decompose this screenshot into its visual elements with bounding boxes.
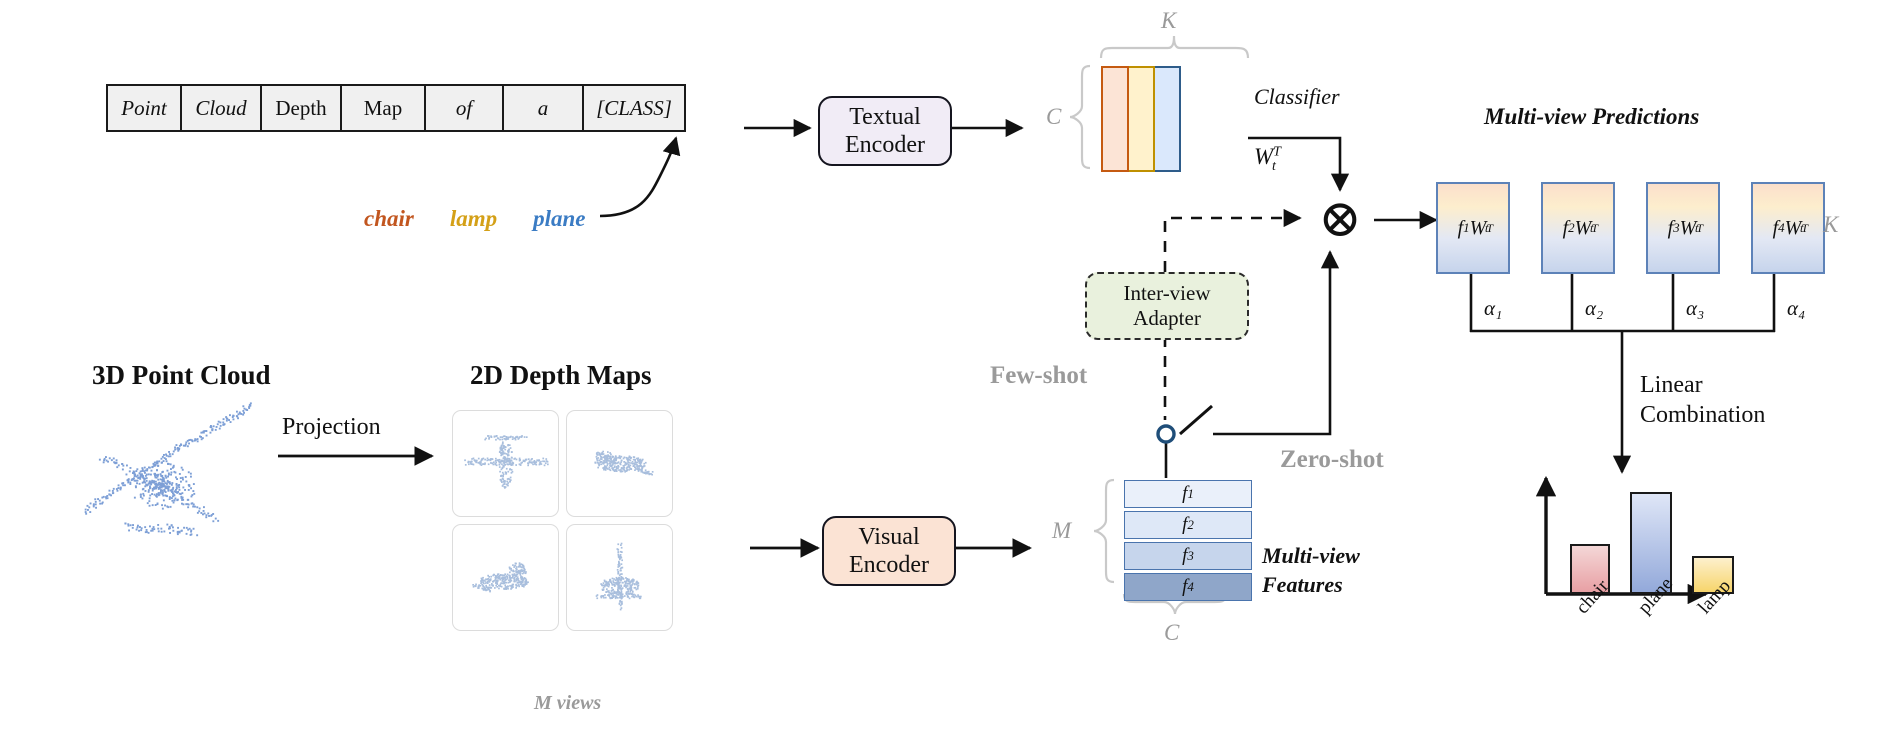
linear-combination-label: Linear Combination	[1640, 370, 1765, 430]
prompt-cell-3[interactable]: Map	[342, 86, 426, 130]
depth-map-view-4[interactable]	[566, 524, 673, 631]
feature-row-4: f4	[1124, 573, 1252, 601]
linear-combination-line1: Linear	[1640, 370, 1765, 400]
feature-row-2: f2	[1124, 511, 1252, 539]
depth-map-view-3[interactable]	[452, 524, 559, 631]
features-brace-c-label: C	[1164, 620, 1179, 646]
visual-encoder-box[interactable]: Visual Encoder	[822, 516, 956, 586]
classifier-formula-sup: T	[1273, 144, 1281, 159]
class-word-lamp[interactable]: lamp	[450, 206, 497, 232]
alpha-weight-2: α₂	[1585, 296, 1603, 321]
prompt-cell-5[interactable]: a	[504, 86, 584, 130]
depth-maps-title: 2D Depth Maps	[470, 360, 652, 391]
classifier-title: Classifier	[1254, 84, 1340, 110]
textual-encoder-line1: Textual	[849, 103, 921, 131]
prediction-box-4: f4WTt	[1751, 182, 1825, 274]
feature-3-sub: 3	[1187, 548, 1194, 564]
prompt-cell-2[interactable]: Depth	[262, 86, 342, 130]
alpha-weight-1: α₁	[1484, 296, 1502, 321]
multiply-operator-icon: ⊗	[1310, 190, 1370, 250]
predictions-brace-k-label: K	[1823, 212, 1838, 238]
feature-row-3: f3	[1124, 542, 1252, 570]
multiply-glyph: ⊗	[1318, 194, 1362, 246]
multi-view-feature-stack: f1 f2 f3 f4	[1124, 480, 1252, 604]
alpha-weight-3: α₃	[1686, 296, 1704, 321]
pred-2-wsub: t	[1590, 221, 1593, 236]
prompt-cell-1[interactable]: Cloud	[182, 86, 262, 130]
features-caption: Multi-view Features	[1262, 542, 1360, 599]
point-cloud-title: 3D Point Cloud	[92, 360, 271, 391]
prompt-template-table: Point Cloud Depth Map of a [CLASS]	[106, 84, 686, 132]
point-cloud-figure	[66, 398, 266, 546]
pred-3-wsub: t	[1695, 221, 1698, 236]
classifier-column-lamp	[1129, 66, 1155, 172]
classifier-column-plane	[1155, 66, 1181, 172]
zero-shot-label: Zero-shot	[1280, 446, 1384, 474]
feature-2-sub: 2	[1187, 517, 1194, 533]
depth-map-grid	[452, 410, 671, 629]
adapter-line1: Inter-view	[1123, 281, 1210, 306]
pred-4-w: W	[1785, 217, 1802, 240]
classifier-brace-k-label: K	[1161, 8, 1176, 34]
classifier-formula-sub: t	[1272, 159, 1276, 174]
prompt-cell-0[interactable]: Point	[108, 86, 182, 130]
textual-encoder-box[interactable]: Textual Encoder	[818, 96, 952, 166]
feature-row-1: f1	[1124, 480, 1252, 508]
classifier-matrix	[1101, 66, 1181, 172]
prediction-box-row: f1WTt f2WTt f3WTt f4WTt	[1436, 182, 1825, 274]
visual-encoder-line1: Visual	[858, 523, 919, 551]
linear-combination-line2: Combination	[1640, 400, 1765, 430]
features-brace-m-label: M	[1052, 518, 1071, 544]
inter-view-adapter-box[interactable]: Inter-view Adapter	[1085, 272, 1249, 340]
classifier-formula: WTt	[1254, 144, 1276, 175]
alpha-weight-4: α₄	[1787, 296, 1805, 321]
feature-1-sub: 1	[1187, 486, 1194, 502]
prediction-box-1: f1WTt	[1436, 182, 1510, 274]
prompt-cell-4[interactable]: of	[426, 86, 504, 130]
class-word-list: chair lamp plane	[364, 206, 586, 232]
feature-4-sub: 4	[1187, 579, 1194, 595]
class-word-plane[interactable]: plane	[533, 206, 585, 232]
features-caption-line2: Features	[1262, 571, 1360, 600]
pred-1-wsub: t	[1485, 221, 1488, 236]
few-shot-label: Few-shot	[990, 362, 1087, 390]
depth-map-view-1[interactable]	[452, 410, 559, 517]
textual-encoder-line2: Encoder	[845, 131, 925, 159]
visual-encoder-line2: Encoder	[849, 551, 929, 579]
prediction-box-3: f3WTt	[1646, 182, 1720, 274]
classifier-brace-c-label: C	[1046, 104, 1061, 130]
prediction-bar-chart	[1546, 480, 1736, 594]
pred-4-wsub: t	[1800, 221, 1803, 236]
prediction-box-2: f2WTt	[1541, 182, 1615, 274]
features-caption-line1: Multi-view	[1262, 542, 1360, 571]
adapter-line2: Adapter	[1133, 306, 1201, 331]
class-word-chair[interactable]: chair	[364, 206, 414, 232]
views-caption: M views	[534, 692, 601, 715]
multi-view-predictions-title: Multi-view Predictions	[1484, 104, 1699, 130]
depth-map-view-2[interactable]	[566, 410, 673, 517]
pred-2-w: W	[1575, 217, 1592, 240]
pred-1-w: W	[1470, 217, 1487, 240]
prompt-cell-class[interactable]: [CLASS]	[584, 86, 684, 130]
classifier-column-chair	[1101, 66, 1129, 172]
pred-3-w: W	[1680, 217, 1697, 240]
projection-label: Projection	[282, 414, 381, 441]
classifier-formula-w: W	[1254, 144, 1273, 169]
